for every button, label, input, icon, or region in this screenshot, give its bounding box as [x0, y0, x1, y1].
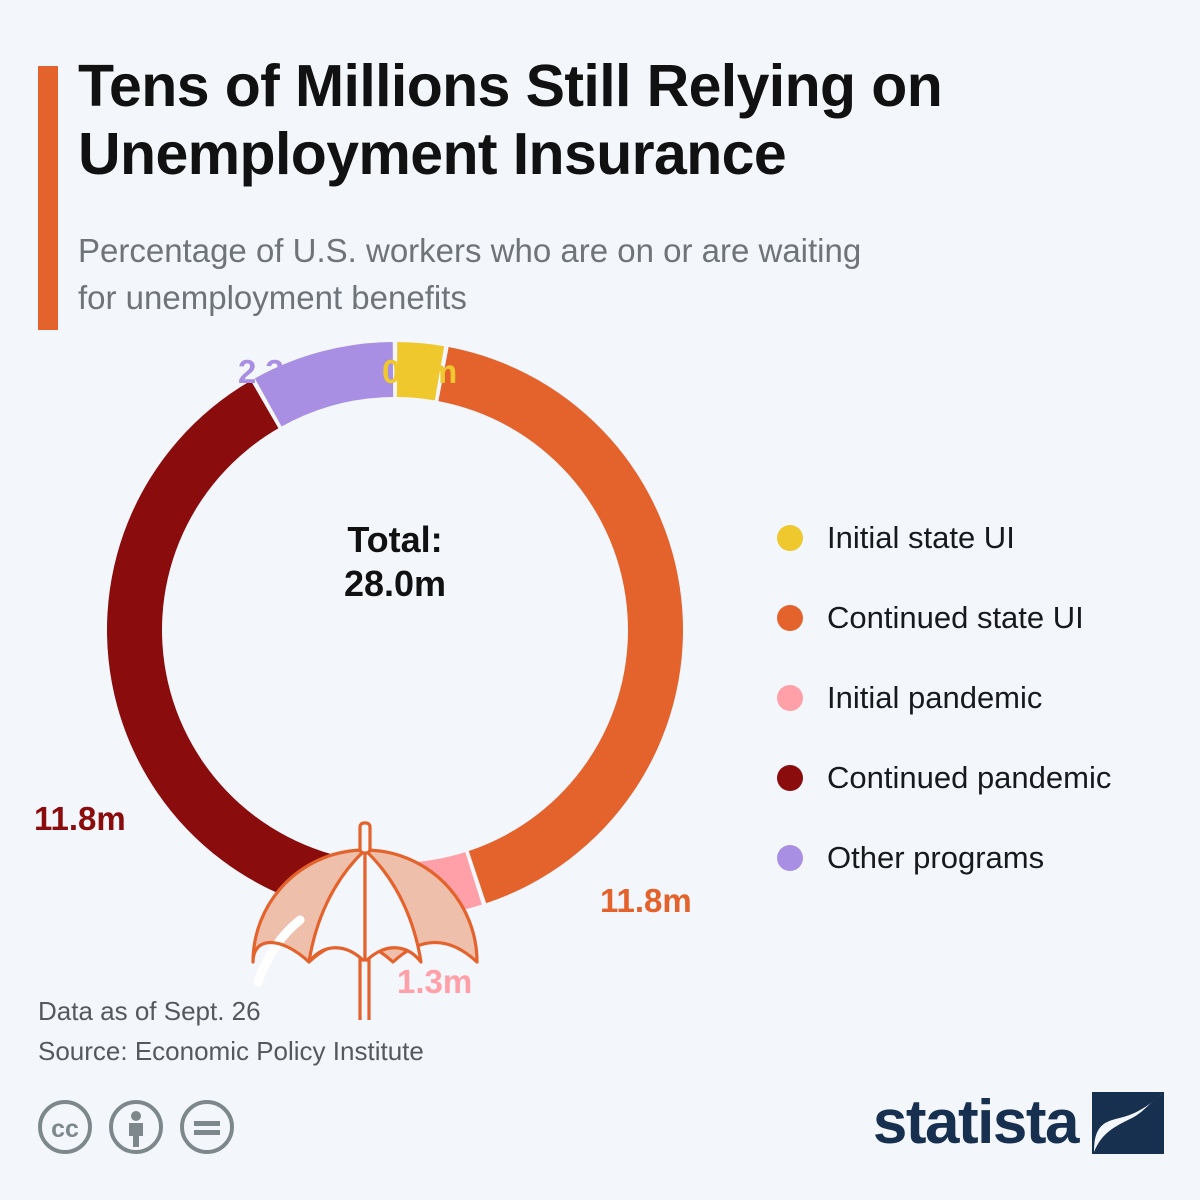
- legend-item-label: Continued state UI: [827, 600, 1084, 636]
- legend-swatch-icon: [777, 525, 803, 551]
- svg-text:cc: cc: [51, 1115, 79, 1143]
- legend-item-other-programs[interactable]: Other programs: [777, 818, 1197, 898]
- statista-mark-icon: [1092, 1092, 1164, 1154]
- legend-item-label: Continued pandemic: [827, 760, 1111, 796]
- slice-value-continued-pandemic: 11.8m: [34, 800, 126, 838]
- statista-wordmark: statista: [873, 1092, 1078, 1154]
- source-note: Source: Economic Policy Institute: [38, 1032, 424, 1072]
- legend-item-initial-state-ui[interactable]: Initial state UI: [777, 498, 1197, 578]
- total-label: Total:: [255, 518, 535, 562]
- slice-value-initial-state-ui: 0.8m: [382, 353, 457, 391]
- statista-logo[interactable]: statista: [873, 1092, 1164, 1154]
- legend-item-label: Initial state UI: [827, 520, 1015, 556]
- slice-value-continued-state-ui: 11.8m: [600, 882, 692, 920]
- legend-swatch-icon: [777, 845, 803, 871]
- legend-swatch-icon: [777, 605, 803, 631]
- donut-segment[interactable]: [438, 347, 683, 903]
- donut-center-total: Total: 28.0m: [255, 518, 535, 606]
- page-title: Tens of Millions Still Relying on Unempl…: [78, 52, 1138, 189]
- no-derivatives-icon[interactable]: [178, 1098, 236, 1156]
- attribution-icon[interactable]: [107, 1098, 165, 1156]
- legend-item-continued-state-ui[interactable]: Continued state UI: [777, 578, 1197, 658]
- legend-swatch-icon: [777, 765, 803, 791]
- legend-item-label: Other programs: [827, 840, 1044, 876]
- chart-legend: Initial state UI Continued state UI Init…: [777, 498, 1197, 898]
- license-icons: cc: [36, 1098, 236, 1156]
- title-accent-bar: [38, 66, 58, 330]
- creative-commons-icon[interactable]: cc: [36, 1098, 94, 1156]
- data-date-note: Data as of Sept. 26: [38, 992, 424, 1032]
- donut-chart: Total: 28.0m 0.8m 11.8m 1.3m 11.8m 2.3m: [0, 340, 760, 1020]
- donut-segment-group: [107, 342, 683, 918]
- page-subtitle: Percentage of U.S. workers who are on or…: [78, 228, 878, 322]
- donut-segment[interactable]: [107, 381, 399, 918]
- legend-item-label: Initial pandemic: [827, 680, 1042, 716]
- slice-value-other-programs: 2.3m: [238, 353, 313, 391]
- legend-item-continued-pandemic[interactable]: Continued pandemic: [777, 738, 1197, 818]
- legend-swatch-icon: [777, 685, 803, 711]
- legend-item-initial-pandemic[interactable]: Initial pandemic: [777, 658, 1197, 738]
- footer-notes: Data as of Sept. 26 Source: Economic Pol…: [38, 992, 424, 1071]
- total-value: 28.0m: [255, 562, 535, 606]
